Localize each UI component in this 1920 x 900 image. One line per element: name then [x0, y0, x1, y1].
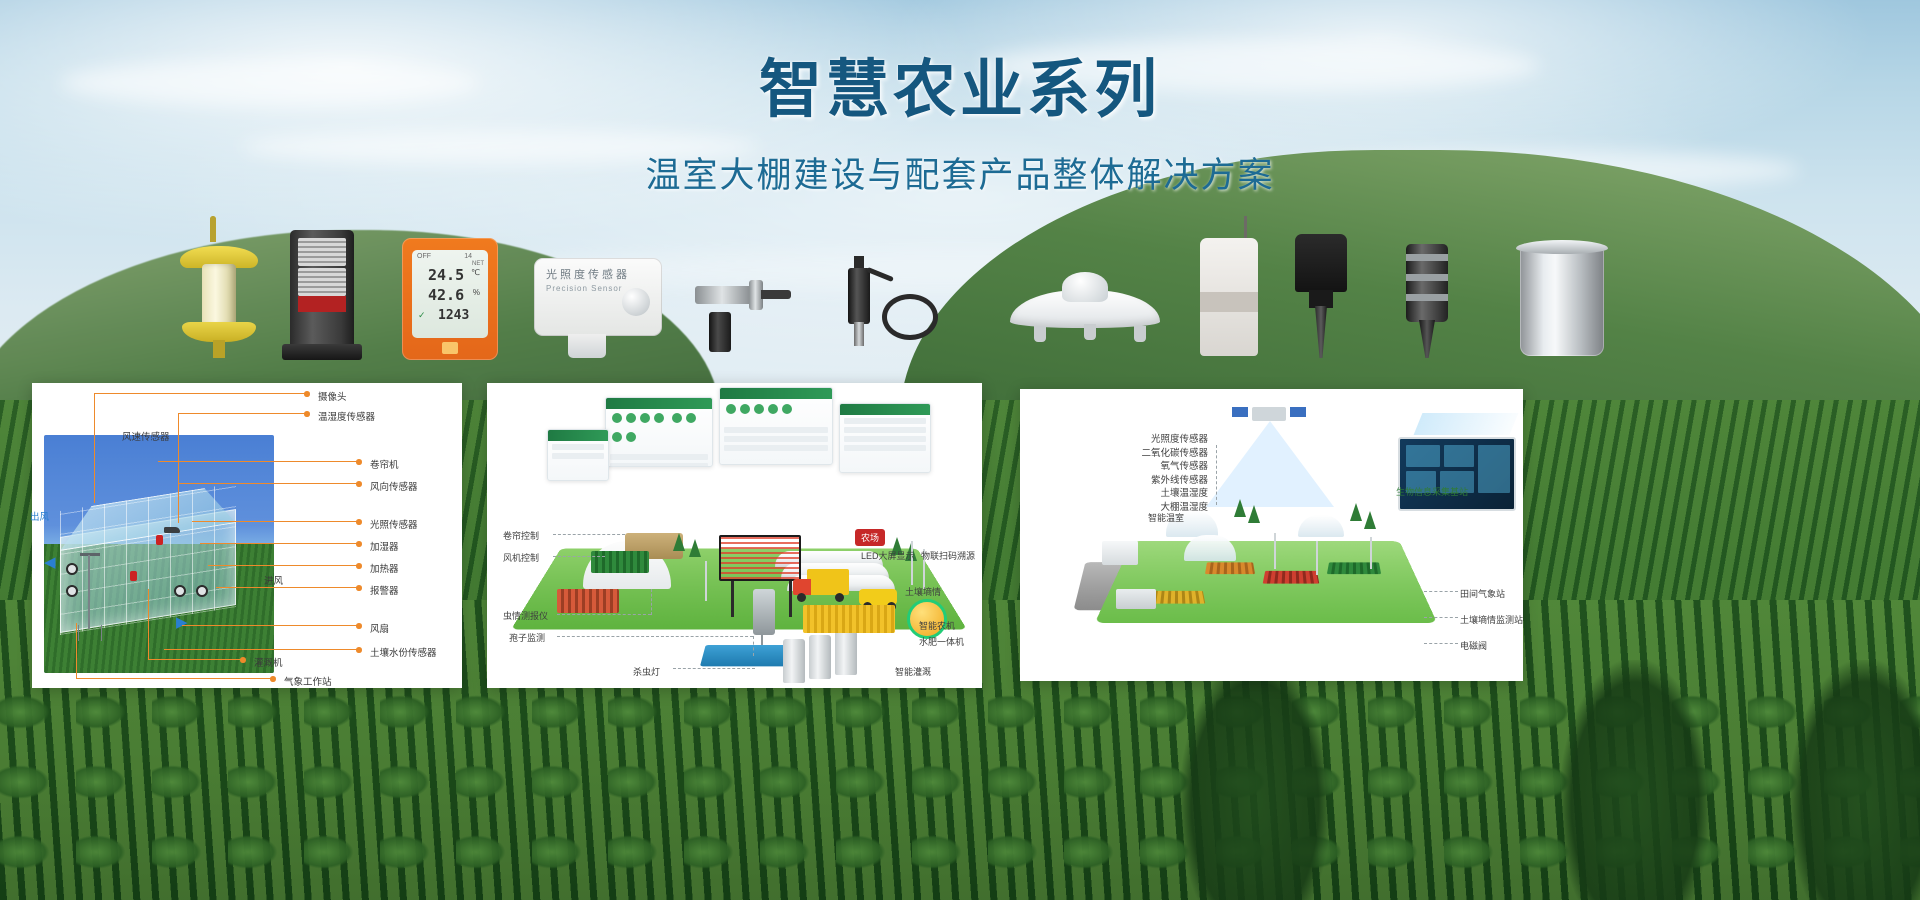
lead-line: [94, 393, 306, 394]
sensor-pole-icon: [1274, 533, 1276, 569]
label-air-inlet: 进风: [264, 573, 283, 587]
recorder-state-off: OFF: [417, 253, 431, 260]
greenhouse-icon: [1298, 515, 1344, 537]
tree-icon: [1248, 505, 1260, 523]
satellite-icon: [1252, 407, 1286, 421]
crop-tile: [1205, 562, 1255, 574]
lead-line: [178, 413, 179, 523]
rain-gauge-icon: [1520, 246, 1604, 356]
dashboard-screen: [719, 387, 833, 465]
lead-line: [553, 534, 625, 535]
alarm-icon: [156, 535, 163, 545]
recorder-net-indicator: NET: [472, 261, 484, 267]
label-bio-info-station: 生物信息采集基站: [1396, 485, 1468, 498]
building-icon: [1102, 541, 1138, 565]
label-wind-direction-sensor: 风向传感器: [370, 479, 418, 493]
silo-icon: [835, 631, 857, 675]
sensor-list: 光照度传感器 二氧化碳传感器 氧气传感器 紫外线传感器 土壤温湿度 大棚温湿度: [1100, 433, 1208, 514]
fan-icon: [174, 585, 186, 597]
lead-line: [673, 668, 755, 669]
tree-icon: [1350, 503, 1362, 521]
precision-sensor-label-cn: 光照度传感器: [546, 266, 630, 282]
recorder-humidity-unit: %: [473, 288, 480, 297]
recorder-temperature-unit: ℃: [471, 268, 480, 277]
sensor-pole-icon: [1316, 541, 1318, 575]
soil-temperature-probe-icon: [1295, 234, 1347, 292]
wind-vane-icon: [164, 527, 180, 533]
label-soil-moisture: 土壤墒情: [905, 585, 941, 598]
sensor-list-item-0: 光照度传感器: [1100, 433, 1208, 447]
cable-icon: [882, 294, 938, 340]
crop-rows-icon: [803, 605, 895, 633]
tree-icon: [1234, 499, 1246, 517]
pond-icon: [700, 645, 794, 666]
recorder-temperature-value: 24.5: [428, 266, 464, 284]
tree-silhouette: [1560, 660, 1710, 900]
lead-line: [216, 587, 358, 588]
recorder-humidity-value: 42.6: [428, 286, 464, 304]
label-irrigation-machine: 灌溉机: [254, 655, 283, 669]
insect-killer-lamp-icon: [210, 216, 216, 242]
platform-illustration: 农场: [487, 383, 982, 688]
label-fertigation: 水肥一体机: [919, 635, 964, 648]
product-pest-forecast-cabinet[interactable]: 虫情测报仪机柜: [290, 230, 370, 360]
crop-rows-icon: [557, 589, 619, 613]
panel-smart-agriculture-platform[interactable]: 农场 卷帘控制 风机控制 虫情测报仪 孢子监测 杀虫灯 LED大屏显示 物联扫码…: [487, 383, 982, 688]
silo-icon: [783, 639, 805, 683]
label-alarm: 报警器: [370, 583, 399, 597]
lead-line: [1424, 643, 1458, 644]
lead-line: [200, 543, 358, 544]
lead-line: [178, 413, 306, 414]
page-title: 智慧农业系列: [0, 56, 1920, 125]
tree-icon: [689, 539, 701, 557]
fan-icon: [196, 585, 208, 597]
recorder-lux-value: 1243: [438, 308, 469, 323]
lead-line: [557, 636, 753, 637]
label-smart-greenhouse: 智能温室: [1148, 511, 1184, 524]
label-pest-forecast: 虫情测报仪: [503, 609, 548, 622]
label-camera: 摄像头: [318, 389, 347, 403]
crop-tile: [1149, 591, 1206, 604]
label-light-sensor: 光照传感器: [370, 517, 418, 531]
fan-icon: [66, 585, 78, 597]
lead-line: [651, 589, 652, 615]
alarm-icon: [130, 571, 137, 581]
tree-silhouette: [1180, 660, 1330, 900]
product-soil-temperature-probe[interactable]: 土壤温度传感器: [1295, 234, 1365, 360]
label-weather-station: 气象工作站: [284, 674, 332, 688]
label-fan-control: 风机控制: [503, 551, 539, 564]
tree-icon: [1364, 511, 1376, 529]
lead-line: [208, 565, 358, 566]
product-soil-moisture-probe[interactable]: 土壤墒情传感器: [1406, 230, 1466, 360]
label-spore-monitor: 孢子监测: [509, 631, 545, 644]
product-tube-soil-sensor[interactable]: 管式土壤传感器: [695, 250, 815, 360]
weather-mast-icon: [88, 555, 90, 629]
monitor-glow: [1414, 413, 1519, 435]
fan-icon: [66, 563, 78, 575]
label-traceability: 物联扫码溯源: [921, 549, 975, 562]
crop-rows-icon: [591, 551, 649, 573]
lead-line: [1216, 445, 1217, 505]
greenhouse-icon: [1184, 535, 1236, 561]
lead-line: [178, 483, 358, 484]
product-precision-sensor[interactable]: 光照度传感器 Precision Sensor 光照度传感器: [534, 250, 669, 360]
park-illustration: [1020, 389, 1523, 681]
silo-icon: [809, 635, 831, 679]
label-heater: 加热器: [370, 561, 399, 575]
sensor-pole-icon: [1370, 537, 1372, 569]
sensor-list-item-3: 紫外线传感器: [1100, 474, 1208, 488]
recorder-button[interactable]: [442, 342, 458, 354]
lead-line: [553, 556, 605, 557]
lead-line: [192, 521, 358, 522]
recorder-battery-count: 14: [464, 253, 472, 260]
lead-line: [1424, 591, 1458, 592]
sensor-list-item-2: 氧气传感器: [1100, 460, 1208, 474]
label-insect-lamp: 杀虫灯: [633, 665, 660, 678]
antenna-icon: [1244, 216, 1247, 240]
sensor-pole-icon: [911, 541, 913, 585]
product-wireless-transmitter[interactable]: 无线温湿度变送器: [1200, 238, 1280, 360]
sensor-pole-icon: [705, 561, 707, 601]
insect-lamp-icon: [753, 589, 775, 635]
air-outlet-arrow-icon: ◀: [44, 553, 56, 571]
tree-icon: [673, 533, 685, 551]
product-showcase-row: 太阳能杀虫灯 虫情测报仪机柜 OFF 14 NET 24.5 ℃ 42.6 % …: [150, 210, 1790, 360]
product-total-radiation-sensor[interactable]: 总辐射传感器: [1010, 260, 1170, 360]
lead-line: [94, 393, 95, 503]
satellite-beam: [1206, 421, 1334, 507]
label-smart-machinery: 智能农机: [919, 619, 955, 632]
product-water-quality-electrode[interactable]: 水质电极传感器: [836, 250, 956, 360]
label-soil-moisture-station: 土壤墒情监测站: [1460, 613, 1523, 626]
label-led-display: LED大屏显示: [861, 549, 915, 562]
lead-line: [148, 659, 244, 660]
header-block: 智慧农业系列 温室大棚建设与配套产品整体解决方案: [0, 56, 1920, 198]
crop-tile: [1327, 562, 1381, 574]
label-smart-irrigation: 智能灌溉: [895, 665, 931, 678]
lead-line: [158, 461, 358, 462]
lead-line: [1424, 617, 1458, 618]
lead-line: [76, 678, 274, 679]
label-roller-control: 卷帘控制: [503, 529, 539, 542]
panel-smart-park-aerial-view[interactable]: 光照度传感器 二氧化碳传感器 氧气传感器 紫外线传感器 土壤温湿度 大棚温湿度 …: [1020, 389, 1523, 681]
greenhouse-3d-scene: ◀ ▶: [44, 435, 274, 673]
tube-soil-sensor-icon: [695, 286, 755, 304]
label-roller-shutter: 卷帘机: [370, 457, 399, 471]
product-temperature-humidity-recorder[interactable]: OFF 14 NET 24.5 ℃ 42.6 % 1243 ✓ 温湿度记录仪: [402, 238, 502, 360]
lead-line: [148, 589, 149, 659]
tree-silhouette: [1790, 660, 1920, 900]
label-soil-moisture-sensor: 土壤水份传感器: [370, 645, 437, 659]
lead-line: [557, 614, 651, 615]
label-temp-humidity-sensor: 温湿度传感器: [318, 409, 375, 423]
label-fan: 风扇: [370, 621, 389, 635]
label-humidifier: 加湿器: [370, 539, 399, 553]
led-display-board-icon: [719, 535, 801, 581]
dashboard-screen: [605, 397, 713, 467]
lead-line: [182, 625, 358, 626]
air-inlet-arrow-icon: ▶: [176, 613, 188, 631]
precision-sensor-label-en: Precision Sensor: [546, 284, 622, 293]
label-solenoid-valve: 电磁阀: [1460, 639, 1487, 652]
page-subtitle: 温室大棚建设与配套产品整体解决方案: [0, 147, 1920, 198]
building-icon: [1116, 589, 1156, 609]
dashboard-screen: [839, 403, 931, 473]
dashboard-screen: [547, 429, 609, 481]
product-insect-killer-lamp[interactable]: 太阳能杀虫灯: [180, 228, 260, 360]
lead-line: [76, 623, 77, 678]
control-room-monitor: [1398, 437, 1516, 511]
panel-greenhouse-sensor-layout[interactable]: ◀ ▶ 摄像头 温湿度传感器 风速传感器 出风 进风 卷帘机 风向传感器 光照传…: [32, 383, 462, 688]
recorder-check-icon: ✓: [418, 310, 426, 321]
truck-icon: [807, 569, 849, 595]
farm-badge: 农场: [855, 529, 885, 546]
crop-tile: [1263, 571, 1320, 584]
label-field-weather-station: 田间气象站: [1460, 587, 1505, 600]
lead-line: [753, 636, 754, 656]
sensor-list-item-4: 土壤温湿度: [1100, 487, 1208, 501]
product-rain-gauge[interactable]: 雨量筒: [1520, 236, 1620, 360]
sensor-list-item-1: 二氧化碳传感器: [1100, 447, 1208, 461]
label-air-outlet: 出风: [30, 509, 49, 523]
label-wind-speed-sensor: 风速传感器: [122, 429, 170, 443]
lead-line: [164, 649, 358, 650]
